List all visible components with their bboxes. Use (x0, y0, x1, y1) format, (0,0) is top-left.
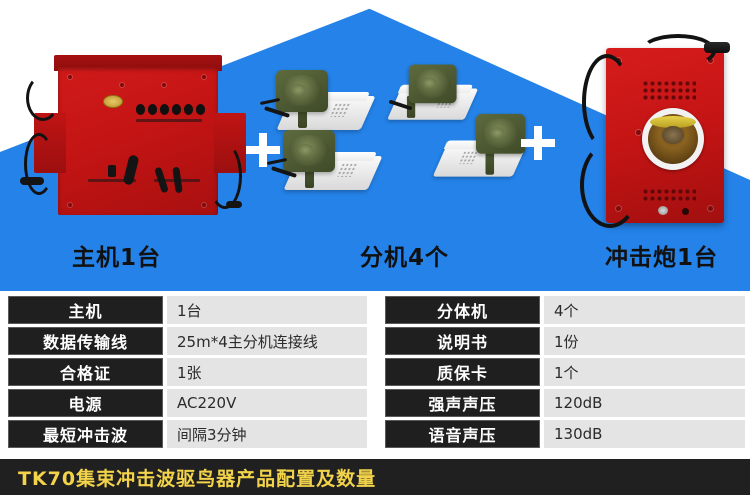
sub-unit-horn-cone (298, 144, 313, 156)
caption-shock-cannon: 冲击炮1台 (605, 238, 718, 272)
spec-value: 120dB (544, 389, 745, 417)
spec-table: 主机 1台 数据传输线 25m*4主分机连接线 合格证 1张 电源 AC220V… (0, 296, 750, 454)
screw-icon (120, 83, 124, 87)
spec-value: 4个 (544, 296, 745, 324)
spec-label: 电源 (8, 389, 163, 417)
spec-column-left: 主机 1台 数据传输线 25m*4主分机连接线 合格证 1张 电源 AC220V… (0, 296, 375, 451)
spec-label: 最短冲击波 (8, 420, 163, 448)
screw-icon (708, 206, 713, 211)
table-row: 主机 1台 (0, 296, 375, 324)
spec-label: 分体机 (385, 296, 540, 324)
screw-icon (202, 75, 206, 79)
spec-label: 语音声压 (385, 420, 540, 448)
sub-unit-horn-cone (423, 77, 437, 88)
product-image-shock-cannon (600, 38, 730, 228)
spec-label: 质保卡 (385, 358, 540, 386)
screw-icon (68, 203, 72, 207)
main-unit-cable (208, 143, 242, 209)
cannon-vent-top (642, 80, 696, 102)
cannon-inner-mechanism (662, 126, 684, 144)
sub-unit-horn (409, 65, 457, 104)
product-image-sub-unit (432, 120, 519, 181)
spec-value: 1个 (544, 358, 745, 386)
product-image-sub-unit (276, 70, 368, 134)
spec-value: 间隔3分钟 (167, 420, 367, 448)
spec-column-right: 分体机 4个 说明书 1份 质保卡 1个 强声声压 120dB 语音声压 130… (377, 296, 750, 451)
screw-icon (636, 130, 641, 135)
cannon-plug (704, 42, 730, 53)
spec-label: 数据传输线 (8, 327, 163, 355)
caption-sub-unit: 分机4个 (360, 238, 449, 272)
spec-value: 1份 (544, 327, 745, 355)
main-unit-port-labels (136, 119, 202, 122)
cannon-knob (658, 206, 668, 215)
banner-title: TK70集束冲击波驱鸟器产品配置及数量 (0, 464, 376, 491)
cannon-cable (580, 142, 640, 228)
table-row: 合格证 1张 (0, 358, 375, 386)
cannon-hole (682, 208, 689, 215)
table-row: 最短冲击波 间隔3分钟 (0, 420, 375, 448)
spec-value: 130dB (544, 420, 745, 448)
screw-icon (162, 83, 166, 87)
main-unit-body (58, 67, 218, 215)
product-image-sub-unit (387, 65, 472, 124)
sub-unit-horn-cone (291, 84, 306, 96)
spec-label: 说明书 (385, 327, 540, 355)
spec-value: 1张 (167, 358, 367, 386)
table-row: 质保卡 1个 (377, 358, 750, 386)
spec-label: 合格证 (8, 358, 163, 386)
spec-label: 强声声压 (385, 389, 540, 417)
main-unit-cable (24, 133, 54, 195)
screw-icon (202, 203, 206, 207)
sub-unit-horn-cone (490, 127, 504, 138)
product-spec-page: 主机1台 分机4个 冲击炮1台 主机 1台 数据传输线 25m*4主分机连接线 … (0, 0, 750, 500)
spec-value: 1台 (167, 296, 367, 324)
table-row: 分体机 4个 (377, 296, 750, 324)
screw-icon (68, 75, 72, 79)
spec-value: AC220V (167, 389, 367, 417)
main-unit-badge (103, 95, 123, 108)
main-unit-cable (26, 75, 60, 121)
main-unit-ports (136, 104, 204, 115)
main-unit-plug (226, 201, 242, 208)
table-row: 说明书 1份 (377, 327, 750, 355)
sub-unit-horn (276, 70, 328, 112)
sub-unit-horn (283, 130, 335, 172)
product-hero: 主机1台 分机4个 冲击炮1台 (0, 0, 750, 291)
main-unit-plug (20, 177, 44, 185)
table-row: 强声声压 120dB (377, 389, 750, 417)
sub-unit-horn (476, 114, 525, 154)
main-unit-switch (108, 165, 116, 177)
cannon-cable (582, 54, 632, 150)
spec-label: 主机 (8, 296, 163, 324)
table-row: 数据传输线 25m*4主分机连接线 (0, 327, 375, 355)
footer-banner: TK70集束冲击波驱鸟器产品配置及数量 (0, 459, 750, 495)
main-unit-label-text (88, 179, 136, 182)
cannon-vent-bottom (642, 188, 696, 202)
table-row: 电源 AC220V (0, 389, 375, 417)
product-image-sub-unit (283, 130, 375, 194)
main-unit-label-text (154, 179, 200, 182)
product-image-main-unit (30, 55, 235, 220)
spec-value: 25m*4主分机连接线 (167, 327, 367, 355)
table-row: 语音声压 130dB (377, 420, 750, 448)
sub-unit-stand (486, 152, 495, 175)
plus-icon (521, 126, 555, 160)
caption-main-unit: 主机1台 (72, 238, 161, 272)
